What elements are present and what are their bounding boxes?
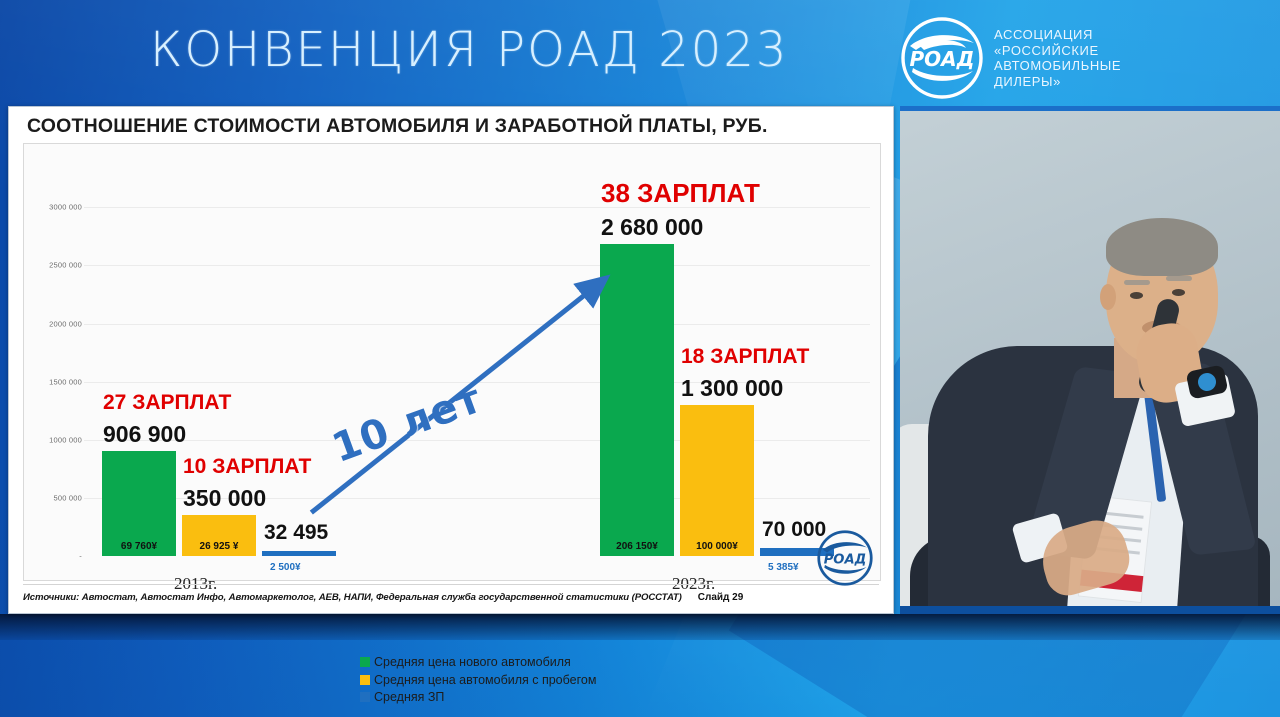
legend-swatch-blue — [360, 692, 370, 702]
brand-line-4: ДИЛЕРЫ» — [994, 74, 1121, 90]
legend-label-new-car: Средняя цена нового автомобиля — [374, 654, 571, 671]
bar-inner-label: 69 760¥ — [102, 541, 176, 552]
legend-item-new-car: Средняя цена нового автомобиля — [360, 654, 596, 671]
road-watermark-icon: РОАД — [815, 529, 875, 587]
brand-line-1: АССОЦИАЦИЯ — [994, 27, 1121, 43]
presentation-screen: КОНВЕНЦИЯ РОАД 2023 РОАД АССОЦИАЦИЯ «РОС… — [0, 0, 1280, 717]
speaker-eye-right — [1172, 289, 1185, 296]
speaker-brow-right — [1166, 276, 1192, 281]
video-top-stripe — [900, 106, 1280, 111]
roаd-brand-block: РОАД АССОЦИАЦИЯ «РОССИЙСКИЕ АВТОМОБИЛЬНЫ… — [900, 12, 1270, 104]
chart-bar: 206 150¥ — [600, 244, 674, 556]
speaker-hair — [1106, 218, 1218, 276]
chart-bar — [262, 551, 336, 556]
y-axis-tick-label: 500 000 — [30, 493, 82, 502]
slide-footer: Источники: Автостат, Автостат Инфо, Авто… — [23, 584, 879, 609]
svg-text:РОАД: РОАД — [824, 553, 867, 568]
legend-swatch-green — [360, 657, 370, 667]
bar-value-label: 2 680 000 — [601, 214, 703, 241]
bar-inner-label: 100 000¥ — [680, 541, 754, 552]
speaker-video-pane[interactable] — [900, 106, 1280, 614]
bar-value-label: 1 300 000 — [681, 375, 783, 402]
chart-bar: 69 760¥ — [102, 451, 176, 556]
brand-line-2: «РОССИЙСКИЕ — [994, 43, 1121, 59]
y-axis-tick-label: 2000 000 — [30, 319, 82, 328]
salary-ratio-label: 38 ЗАРПЛАТ — [601, 178, 760, 209]
chart-bar: 26 925 ¥ — [182, 515, 256, 556]
chart-bar: 100 000¥ — [680, 405, 754, 556]
speaker-eye-left — [1130, 292, 1143, 299]
legend-label-salary: Средняя ЗП — [374, 689, 444, 706]
chart-frame: 3000 0002500 0002000 0001500 0001000 000… — [23, 143, 881, 581]
slide-panel: СООТНОШЕНИЕ СТОИМОСТИ АВТОМОБИЛЯ И ЗАРАБ… — [8, 106, 894, 614]
bar-value-label: 32 495 — [264, 521, 328, 545]
brand-name-text: АССОЦИАЦИЯ «РОССИЙСКИЕ АВТОМОБИЛЬНЫЕ ДИЛ… — [994, 27, 1121, 89]
slide-number: Слайд 29 — [698, 592, 744, 603]
legend-item-used-car: Средняя цена автомобиля с пробегом — [360, 672, 596, 689]
legend-label-used-car: Средняя цена автомобиля с пробегом — [374, 672, 596, 689]
bar-inner-label: 26 925 ¥ — [182, 541, 256, 552]
video-bottom-stripe — [900, 606, 1280, 614]
chart-legend: Средняя цена нового автомобиля Средняя ц… — [360, 654, 596, 707]
legend-item-salary: Средняя ЗП — [360, 689, 596, 706]
bar-value-label: 906 900 — [103, 421, 186, 448]
y-axis-tick-label: 2500 000 — [30, 261, 82, 270]
salary-ratio-label: 10 ЗАРПЛАТ — [183, 455, 311, 479]
speaker-brow-left — [1124, 280, 1150, 285]
slide-title: СООТНОШЕНИЕ СТОИМОСТИ АВТОМОБИЛЯ И ЗАРАБ… — [27, 115, 768, 138]
background-dark-band — [0, 614, 1280, 640]
salary-ratio-label: 27 ЗАРПЛАТ — [103, 391, 231, 415]
salary-ratio-label: 18 ЗАРПЛАТ — [681, 345, 809, 369]
brand-line-3: АВТОМОБИЛЬНЫЕ — [994, 58, 1121, 74]
chart-plot-area: 3000 0002500 0002000 0001500 0001000 000… — [24, 144, 880, 580]
y-axis-tick-label: - — [30, 552, 82, 561]
conference-title: КОНВЕНЦИЯ РОАД 2023 — [150, 22, 788, 78]
chart-gridline — [84, 324, 870, 325]
bar-inner-label: 206 150¥ — [600, 541, 674, 552]
salary-yuan-label: 2 500¥ — [270, 562, 301, 573]
speaker-ear — [1100, 284, 1116, 310]
y-axis-tick-label: 1000 000 — [30, 435, 82, 444]
svg-text:РОАД: РОАД — [910, 47, 975, 71]
header-bar: КОНВЕНЦИЯ РОАД 2023 РОАД АССОЦИАЦИЯ «РОС… — [0, 0, 1280, 108]
bar-value-label: 350 000 — [183, 485, 266, 512]
y-axis-tick-label: 3000 000 — [30, 203, 82, 212]
road-logo-icon: РОАД — [900, 16, 984, 100]
chart-gridline — [84, 265, 870, 266]
y-axis-tick-label: 1500 000 — [30, 377, 82, 386]
legend-swatch-yellow — [360, 675, 370, 685]
sources-text: Источники: Автостат, Автостат Инфо, Авто… — [23, 592, 682, 603]
salary-yuan-label: 5 385¥ — [768, 562, 799, 573]
